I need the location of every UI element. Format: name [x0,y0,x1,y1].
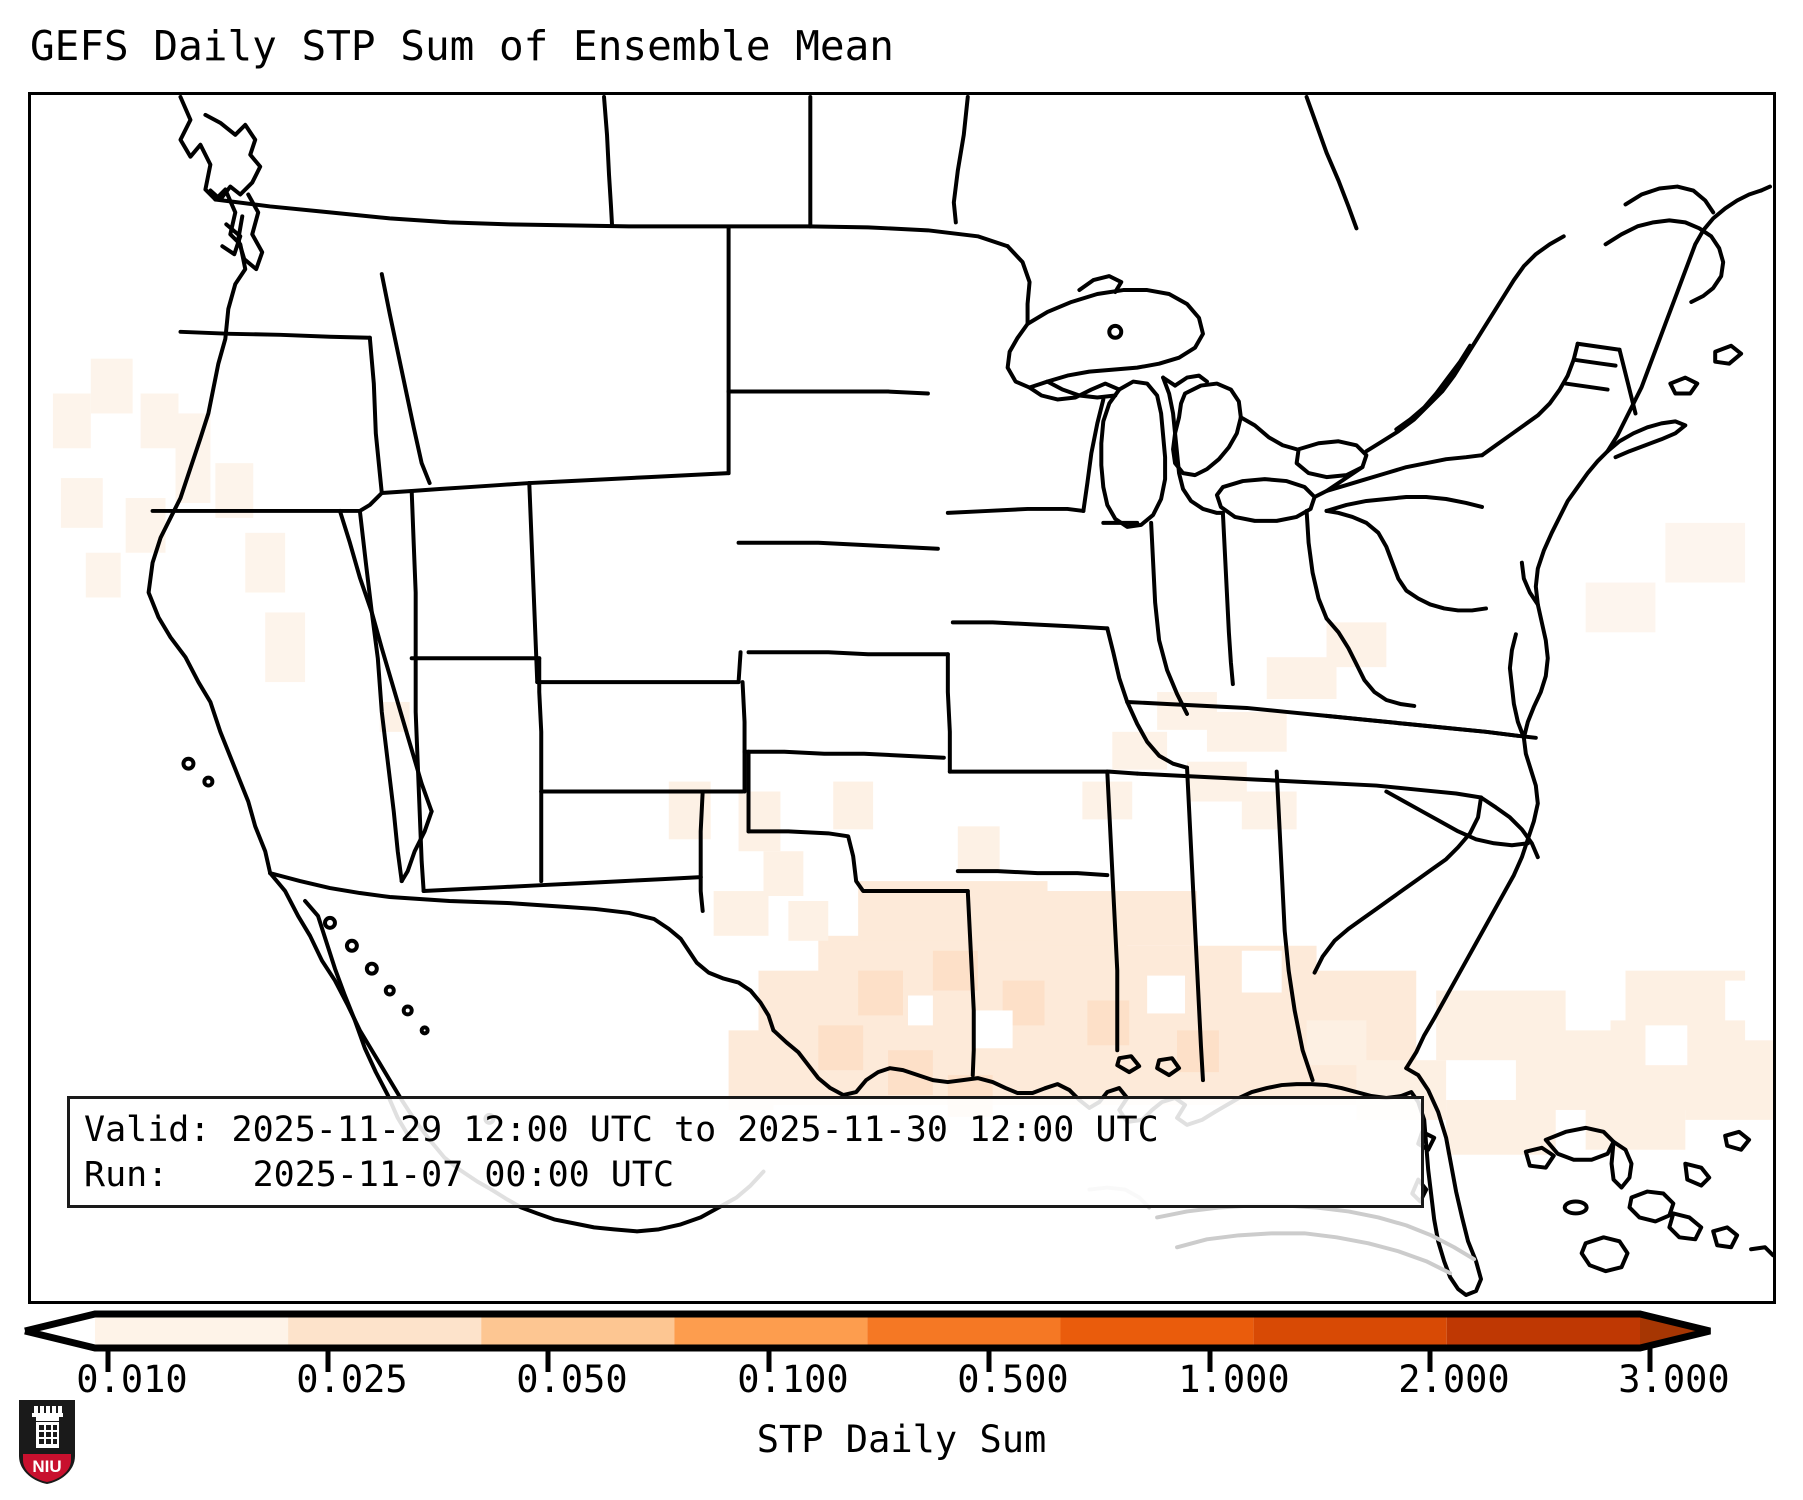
colorbar-tick-label-3: 0.100 [737,1358,848,1401]
info-box: Valid: 2025-11-29 12:00 UTC to 2025-11-3… [67,1096,1424,1208]
colorbar-tick-label-7: 3.000 [1618,1358,1729,1401]
colorbar-graphic[interactable] [0,1306,1803,1416]
colorbar-tick-label-0: 0.010 [76,1358,187,1401]
niu-wordmark: NIU [32,1457,61,1476]
colorbar-segments [95,1314,1640,1348]
run-time-text: Run: 2025-11-07 00:00 UTC [84,1153,1421,1198]
colorbar-tick-label-5: 1.000 [1178,1358,1289,1401]
valid-time-text: Valid: 2025-11-29 12:00 UTC to 2025-11-3… [84,1108,1421,1153]
colorbar[interactable]: 0.010 0.025 0.050 0.100 0.500 1.000 2.00… [0,1306,1803,1500]
niu-castle-windows [39,1425,57,1444]
colorbar-tick-label-6: 2.000 [1398,1358,1509,1401]
colorbar-tick-label-2: 0.050 [516,1358,627,1401]
page-title: GEFS Daily STP Sum of Ensemble Mean [30,20,894,72]
colorbar-axis-label: STP Daily Sum [0,1418,1803,1461]
colorbar-tick-label-4: 0.500 [957,1358,1068,1401]
colorbar-tick-label-1: 0.025 [296,1358,407,1401]
map-panel[interactable]: Valid: 2025-11-29 12:00 UTC to 2025-11-3… [28,92,1776,1304]
niu-logo: NIU [17,1398,77,1486]
